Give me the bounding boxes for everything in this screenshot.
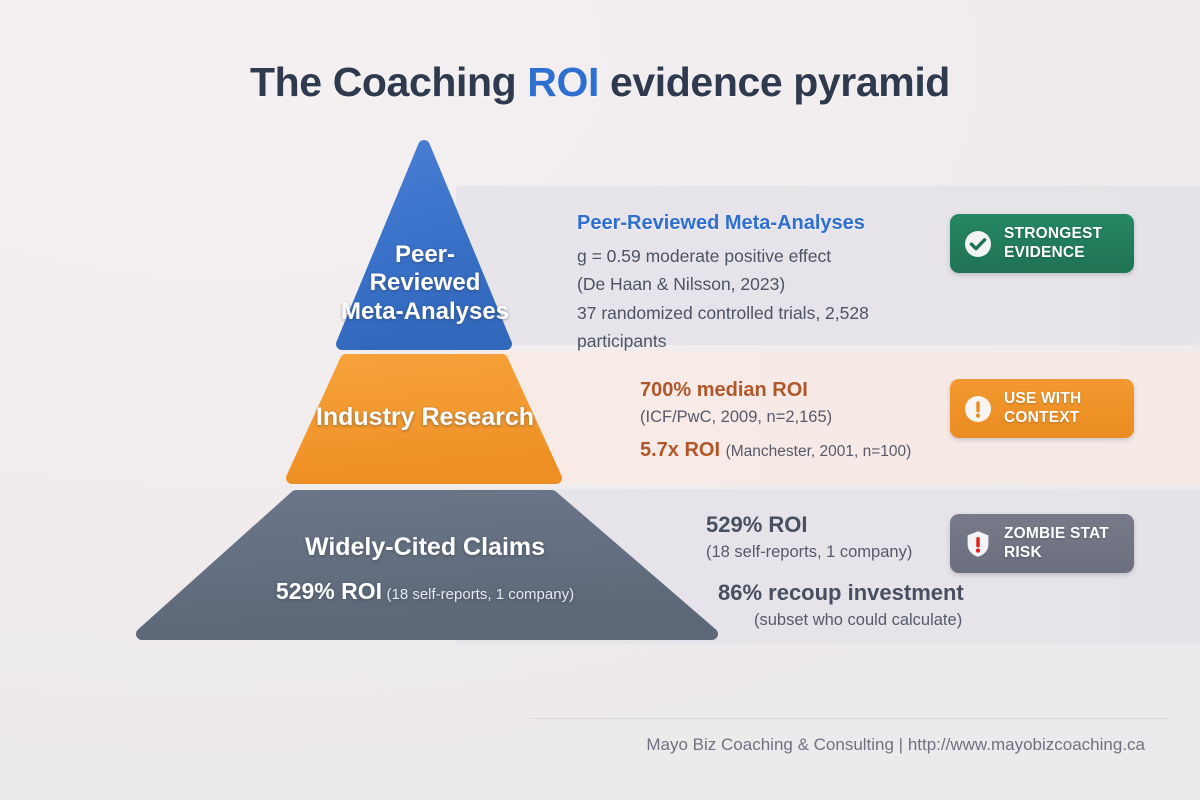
pyramid-tier-2-shape	[292, 360, 556, 478]
badge-zombie-stat-risk-text: ZOMBIE STAT RISK	[1004, 525, 1109, 562]
badge-use-with-context-text: USE WITH CONTEXT	[1004, 390, 1081, 427]
pyramid-tier-3-stat-value: 529% ROI	[276, 578, 382, 604]
pyramid-tier-3-stat: 529% ROI (18 self-reports, 1 company)	[200, 578, 650, 605]
footer-attribution: Mayo Biz Coaching & Consulting | http://…	[0, 735, 1145, 755]
badge-strongest-evidence[interactable]: STRONGEST EVIDENCE	[950, 214, 1134, 273]
detail-tier-3-stat-2-source: (subset who could calculate)	[706, 608, 1006, 633]
badge-use-with-context[interactable]: USE WITH CONTEXT	[950, 379, 1134, 438]
shield-alert-icon	[962, 528, 994, 560]
detail-tier-1-line-2: (De Haan & Nilsson, 2023)	[577, 270, 937, 298]
badge-strongest-evidence-line2: EVIDENCE	[1004, 244, 1102, 262]
detail-tier-1-heading: Peer-Reviewed Meta-Analyses	[577, 212, 937, 235]
detail-tier-2: 700% median ROI (ICF/PwC, 2009, n=2,165)…	[640, 376, 940, 465]
detail-tier-2-stat-2-row: 5.7x ROI (Manchester, 2001, n=100)	[640, 436, 940, 465]
detail-tier-1: Peer-Reviewed Meta-Analyses g = 0.59 mod…	[577, 212, 937, 355]
badge-zombie-stat-risk[interactable]: ZOMBIE STAT RISK	[950, 514, 1134, 573]
exclamation-circle-icon	[962, 393, 994, 425]
detail-tier-1-line-3: 37 randomized controlled trials, 2,528 p…	[577, 299, 937, 356]
badge-use-with-context-line2: CONTEXT	[1004, 409, 1081, 427]
badge-zombie-stat-risk-line1: ZOMBIE STAT	[1004, 525, 1109, 543]
badge-zombie-stat-risk-line2: RISK	[1004, 544, 1109, 562]
detail-tier-3-stat-2: 86% recoup investment	[706, 578, 1006, 608]
detail-tier-2-stat-2: 5.7x ROI	[640, 439, 720, 461]
badge-use-with-context-line1: USE WITH	[1004, 390, 1081, 408]
detail-tier-2-stat-1: 700% median ROI	[640, 376, 940, 405]
detail-tier-2-stat-2-source: (Manchester, 2001, n=100)	[726, 443, 912, 460]
pyramid-tier-3-stat-note: (18 self-reports, 1 company)	[386, 586, 574, 603]
badge-strongest-evidence-text: STRONGEST EVIDENCE	[1004, 225, 1102, 262]
pyramid-tier-1-shape	[342, 146, 506, 344]
badge-strongest-evidence-line1: STRONGEST	[1004, 225, 1102, 243]
footer-divider	[530, 718, 1170, 719]
check-circle-icon	[962, 228, 994, 260]
detail-tier-2-stat-1-source: (ICF/PwC, 2009, n=2,165)	[640, 405, 940, 430]
detail-tier-1-line-1: g = 0.59 moderate positive effect	[577, 242, 937, 270]
pyramid-tier-3-shape	[142, 496, 712, 634]
